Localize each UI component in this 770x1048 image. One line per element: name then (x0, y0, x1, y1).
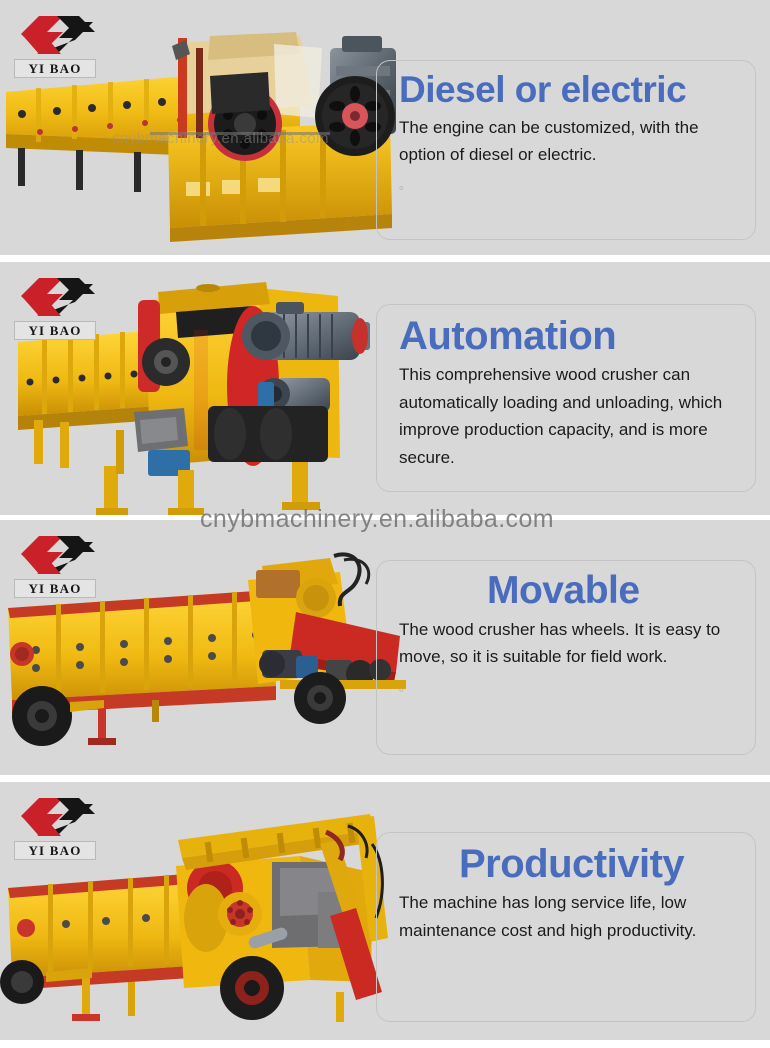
feature-body: The machine has long service life, low m… (399, 889, 735, 944)
brand-name: YI BAO (14, 59, 96, 78)
feature-panel-movable: YI BAO Movable The wood crusher has whee… (0, 520, 770, 775)
feature-title: Diesel or electric (399, 71, 735, 110)
feature-body: The wood crusher has wheels. It is easy … (399, 616, 735, 671)
brand-logo: YI BAO (14, 274, 100, 340)
feature-card-diesel-or-electric: Diesel or electric The engine can be cus… (376, 60, 756, 240)
feature-panel-automation: YI BAO Automation This comprehensive woo… (0, 262, 770, 515)
yibao-logo-icon (17, 532, 97, 578)
trailing-mark: 。 (399, 179, 735, 191)
brand-logo: YI BAO (14, 794, 100, 860)
yibao-logo-icon (17, 12, 97, 58)
yibao-logo-icon (17, 794, 97, 840)
feature-body: The engine can be customized, with the o… (399, 114, 735, 169)
yibao-logo-icon (17, 274, 97, 320)
brand-logo: YI BAO (14, 532, 100, 598)
feature-title: Automation (399, 315, 735, 357)
feature-card-movable: Movable The wood crusher has wheels. It … (376, 560, 756, 755)
brand-name: YI BAO (14, 841, 96, 860)
product-feature-page: cnybmachinery.en.alibaba.com YI BAO Dies… (0, 0, 770, 1048)
feature-panel-productivity: YI BAO Productivity The machine has long… (0, 782, 770, 1040)
brand-logo: YI BAO (14, 12, 100, 78)
brand-name: YI BAO (14, 579, 96, 598)
feature-title: Movable (487, 571, 735, 612)
feature-card-productivity: Productivity The machine has long servic… (376, 832, 756, 1022)
feature-body: This comprehensive wood crusher can auto… (399, 361, 735, 471)
trailing-mark: 。 (399, 681, 735, 693)
feature-title: Productivity (459, 843, 735, 885)
feature-panel-diesel-or-electric: cnybmachinery.en.alibaba.com YI BAO Dies… (0, 0, 770, 255)
feature-card-automation: Automation This comprehensive wood crush… (376, 304, 756, 492)
brand-name: YI BAO (14, 321, 96, 340)
